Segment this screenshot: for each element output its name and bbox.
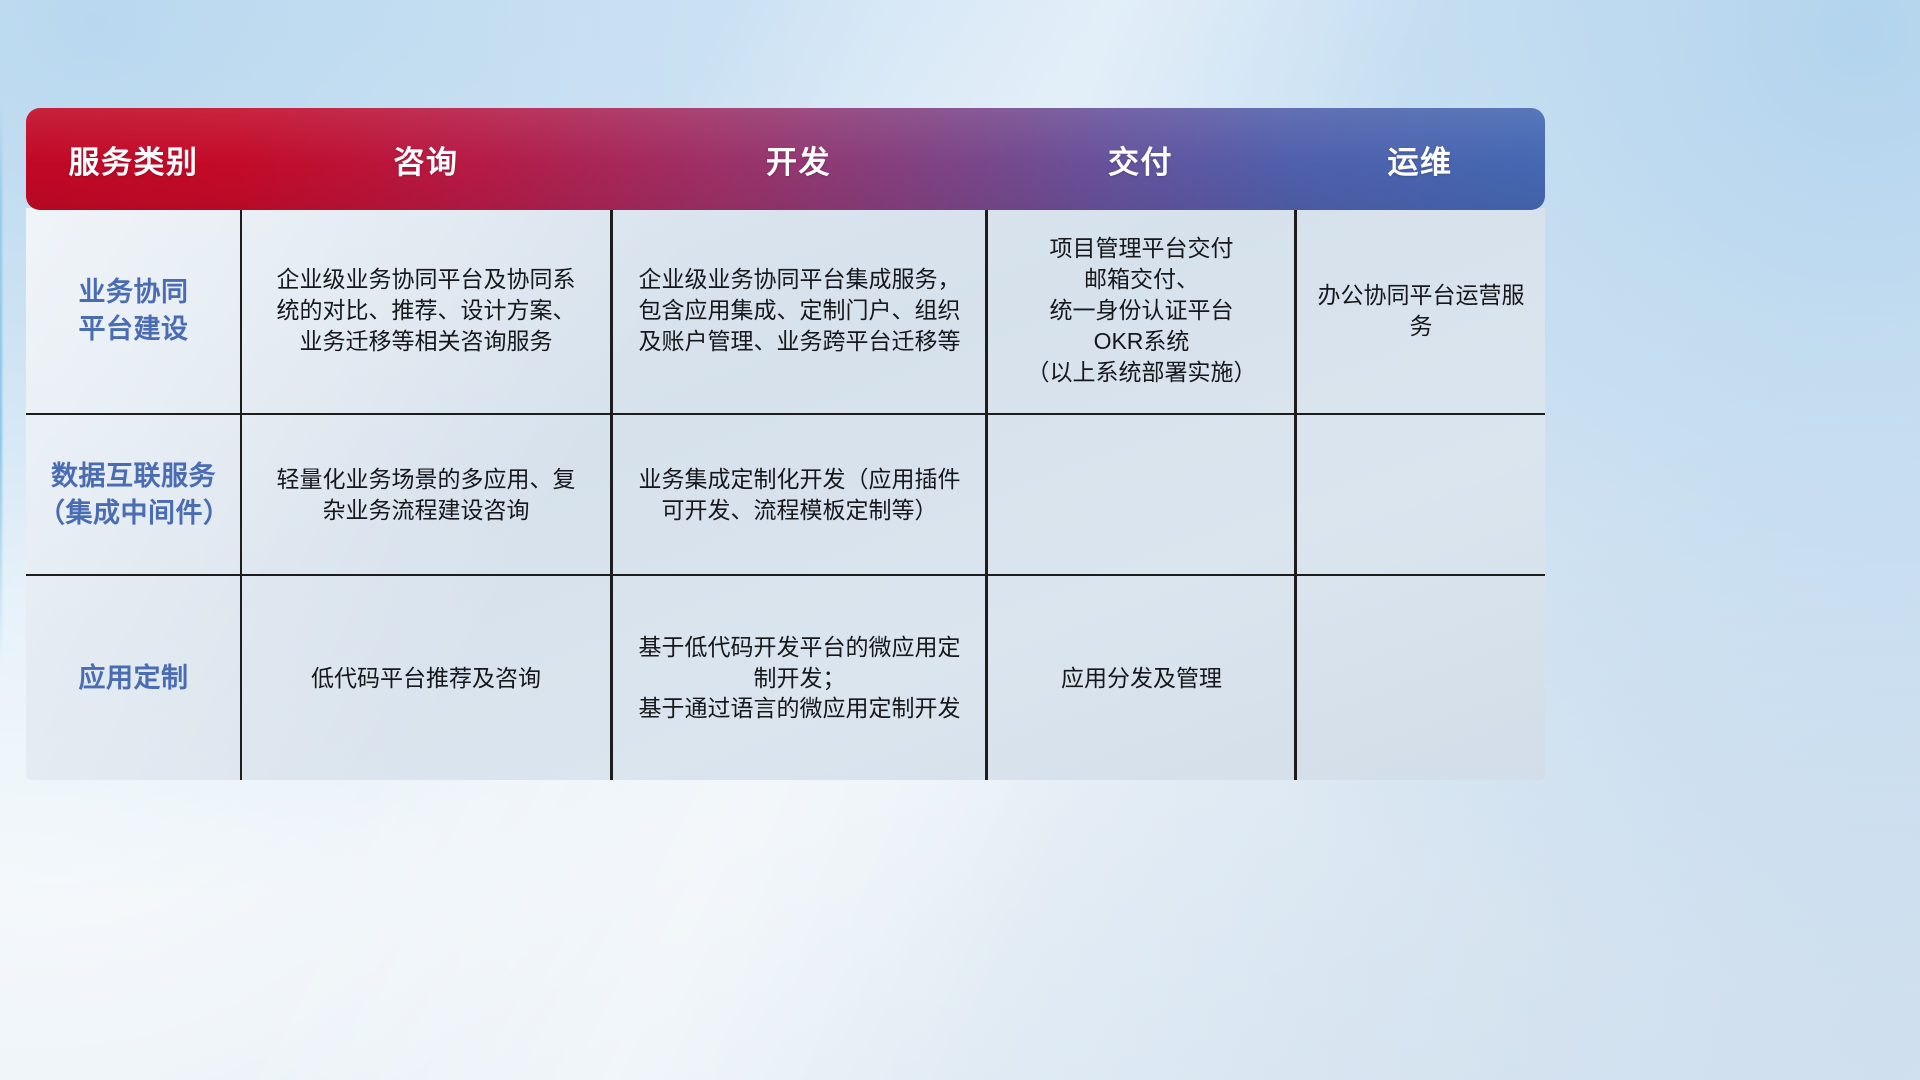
table-body: 业务协同 平台建设 企业级业务协同平台及协同系 统的对比、推荐、设计方案、 业务…: [26, 208, 1545, 780]
table-left-edge-glow: [0, 104, 2, 664]
table-row: 业务协同 平台建设 企业级业务协同平台及协同系 统的对比、推荐、设计方案、 业务…: [26, 208, 1545, 413]
row-label-data-interconnect: 数据互联服务 （集成中间件）: [26, 415, 241, 574]
service-matrix-table: 服务类别 咨询 开发 交付 运维 业务协同 平台建设 企业级业务协同平台及协同系…: [26, 108, 1545, 778]
cell-development: 基于低代码开发平台的微应用定 制开发； 基于通过语言的微应用定制开发: [611, 576, 986, 780]
column-header-consulting: 咨询: [241, 108, 611, 210]
column-divider: [985, 208, 987, 780]
column-divider: [1294, 208, 1296, 780]
column-header-operations: 运维: [1295, 108, 1545, 210]
column-divider: [240, 208, 242, 780]
cell-delivery: 项目管理平台交付 邮箱交付、 统一身份认证平台 OKR系统 （以上系统部署实施）: [986, 208, 1295, 413]
table-row: 应用定制 低代码平台推荐及咨询 基于低代码开发平台的微应用定 制开发； 基于通过…: [26, 574, 1545, 780]
cell-delivery: [986, 415, 1295, 574]
cell-consulting: 企业级业务协同平台及协同系 统的对比、推荐、设计方案、 业务迁移等相关咨询服务: [241, 208, 611, 413]
cell-delivery: 应用分发及管理: [986, 576, 1295, 780]
column-header-development: 开发: [611, 108, 986, 210]
column-header-category: 服务类别: [26, 108, 241, 210]
cell-consulting: 轻量化业务场景的多应用、复 杂业务流程建设咨询: [241, 415, 611, 574]
cell-operations: 办公协同平台运营服务: [1295, 208, 1545, 413]
column-divider: [610, 208, 612, 780]
table-header-row: 服务类别 咨询 开发 交付 运维: [26, 108, 1545, 210]
cell-operations: [1295, 576, 1545, 780]
row-label-business-collaboration: 业务协同 平台建设: [26, 208, 241, 413]
cell-development: 业务集成定制化开发（应用插件 可开发、流程模板定制等）: [611, 415, 986, 574]
row-label-app-customization: 应用定制: [26, 576, 241, 780]
cell-operations: [1295, 415, 1545, 574]
column-header-delivery: 交付: [986, 108, 1295, 210]
table-row: 数据互联服务 （集成中间件） 轻量化业务场景的多应用、复 杂业务流程建设咨询 业…: [26, 413, 1545, 574]
cell-consulting: 低代码平台推荐及咨询: [241, 576, 611, 780]
cell-development: 企业级业务协同平台集成服务， 包含应用集成、定制门户、组织 及账户管理、业务跨平…: [611, 208, 986, 413]
